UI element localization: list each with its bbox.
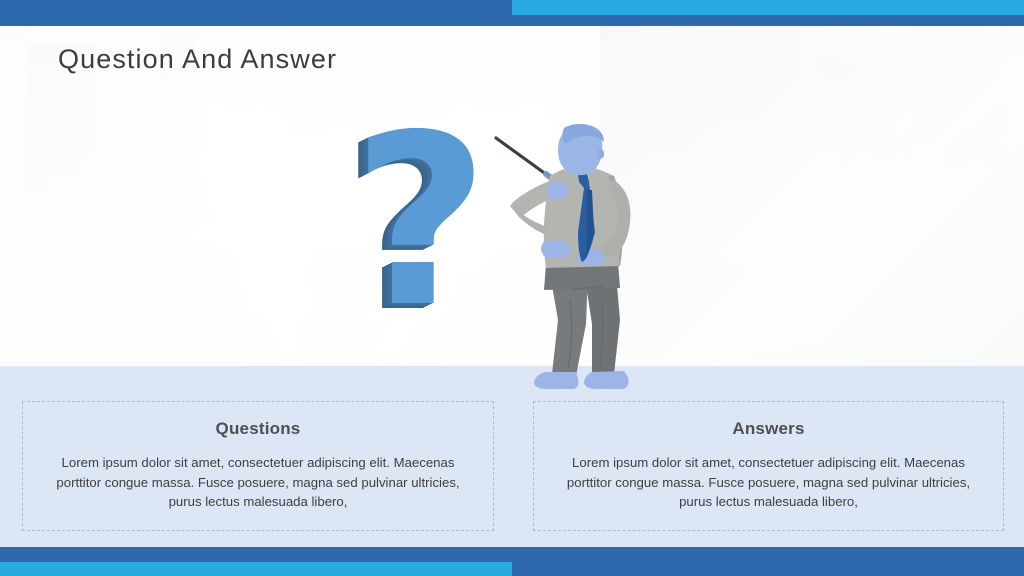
questions-panel: Questions Lorem ipsum dolor sit amet, co…: [22, 401, 494, 531]
answers-panel: Answers Lorem ipsum dolor sit amet, cons…: [533, 401, 1004, 531]
page-title: Question And Answer: [58, 44, 337, 75]
answers-body: Lorem ipsum dolor sit amet, consectetuer…: [554, 453, 984, 512]
questions-body: Lorem ipsum dolor sit amet, consectetuer…: [43, 453, 473, 512]
answers-heading: Answers: [534, 419, 1003, 439]
presenter-figure-icon: [488, 124, 658, 392]
question-mark-glyph: ?: [352, 112, 489, 332]
top-bar-light: [512, 0, 1024, 15]
slide-canvas: Question And Answer ?: [0, 0, 1024, 576]
questions-heading: Questions: [23, 419, 493, 439]
background-tint: [600, 26, 1024, 366]
bottom-bar-light: [0, 562, 512, 576]
